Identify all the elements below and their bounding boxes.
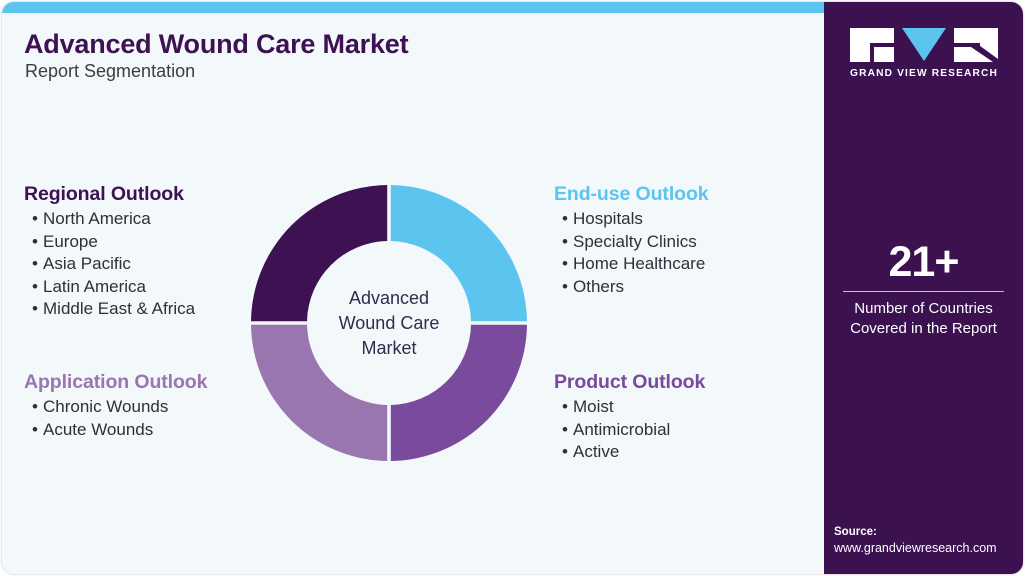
list-item: •North America bbox=[32, 208, 195, 231]
bullet-icon: • bbox=[562, 396, 573, 419]
list-item-label: Home Healthcare bbox=[573, 254, 705, 273]
list-item: •Asia Pacific bbox=[32, 253, 195, 276]
side-panel: GRAND VIEW RESEARCH 21+ Number of Countr… bbox=[824, 2, 1023, 574]
list-item-label: Moist bbox=[573, 397, 614, 416]
outlook-block-enduse: End-use Outlook •Hospitals •Specialty Cl… bbox=[554, 183, 709, 298]
list-item: •Europe bbox=[32, 231, 195, 254]
list-item-label: Active bbox=[573, 442, 619, 461]
list-item-label: Chronic Wounds bbox=[43, 397, 168, 416]
outlook-list-enduse: •Hospitals •Specialty Clinics •Home Heal… bbox=[554, 208, 709, 298]
donut-segment-product bbox=[391, 325, 527, 461]
top-accent-bar bbox=[2, 2, 824, 13]
outlook-title-application: Application Outlook bbox=[24, 371, 207, 394]
list-item: •Home Healthcare bbox=[562, 253, 709, 276]
list-item: •Others bbox=[562, 276, 709, 299]
bullet-icon: • bbox=[32, 253, 43, 276]
outlook-block-application: Application Outlook •Chronic Wounds •Acu… bbox=[24, 371, 207, 441]
list-item: •Chronic Wounds bbox=[32, 396, 207, 419]
main-content-area: Advanced Wound Care Market Report Segmen… bbox=[2, 13, 824, 574]
list-item: •Hospitals bbox=[562, 208, 709, 231]
list-item-label: Europe bbox=[43, 232, 98, 251]
segmentation-donut-chart: Advanced Wound Care Market bbox=[249, 183, 529, 463]
bullet-icon: • bbox=[32, 419, 43, 442]
bullet-icon: • bbox=[32, 396, 43, 419]
page-title: Advanced Wound Care Market bbox=[24, 29, 408, 60]
stat-divider bbox=[843, 291, 1004, 292]
stat-caption-line-1: Number of Countries bbox=[836, 299, 1011, 319]
source-label: Source: bbox=[834, 524, 1023, 540]
infographic-canvas: Advanced Wound Care Market Report Segmen… bbox=[0, 0, 1025, 576]
outlook-block-regional: Regional Outlook •North America •Europe … bbox=[24, 183, 195, 321]
list-item-label: Acute Wounds bbox=[43, 420, 153, 439]
source-block: Source: www.grandviewresearch.com bbox=[834, 524, 1023, 557]
list-item-label: Specialty Clinics bbox=[573, 232, 697, 251]
list-item: •Moist bbox=[562, 396, 705, 419]
bullet-icon: • bbox=[32, 298, 43, 321]
list-item-label: North America bbox=[43, 209, 151, 228]
countries-stat: 21+ Number of Countries Covered in the R… bbox=[836, 239, 1011, 339]
list-item-label: Latin America bbox=[43, 277, 146, 296]
outlook-list-application: •Chronic Wounds •Acute Wounds bbox=[24, 396, 207, 441]
bullet-icon: • bbox=[32, 231, 43, 254]
outlook-list-regional: •North America •Europe •Asia Pacific •La… bbox=[24, 208, 195, 321]
outlook-title-regional: Regional Outlook bbox=[24, 183, 195, 206]
donut-segment-enduse bbox=[391, 185, 527, 321]
bullet-icon: • bbox=[32, 208, 43, 231]
report-card: Advanced Wound Care Market Report Segmen… bbox=[2, 2, 1023, 574]
stat-caption: Number of Countries Covered in the Repor… bbox=[836, 299, 1011, 339]
list-item-label: Asia Pacific bbox=[43, 254, 131, 273]
gvr-logo-icon bbox=[850, 28, 998, 62]
list-item: •Specialty Clinics bbox=[562, 231, 709, 254]
donut-segment-regional bbox=[251, 185, 387, 321]
list-item: •Acute Wounds bbox=[32, 419, 207, 442]
outlook-list-product: •Moist •Antimicrobial •Active bbox=[554, 396, 705, 464]
list-item-label: Others bbox=[573, 277, 624, 296]
outlook-title-enduse: End-use Outlook bbox=[554, 183, 709, 206]
stat-caption-line-2: Covered in the Report bbox=[836, 319, 1011, 339]
donut-svg bbox=[249, 183, 529, 463]
logo-mark bbox=[850, 28, 998, 62]
bullet-icon: • bbox=[562, 231, 573, 254]
bullet-icon: • bbox=[32, 276, 43, 299]
source-url[interactable]: www.grandviewresearch.com bbox=[834, 540, 1023, 557]
outlook-title-product: Product Outlook bbox=[554, 371, 705, 394]
bullet-icon: • bbox=[562, 276, 573, 299]
outlook-block-product: Product Outlook •Moist •Antimicrobial •A… bbox=[554, 371, 705, 464]
page-subtitle: Report Segmentation bbox=[25, 61, 195, 82]
bullet-icon: • bbox=[562, 208, 573, 231]
triangle-icon bbox=[902, 28, 946, 61]
donut-segment-application bbox=[251, 325, 387, 461]
list-item: •Antimicrobial bbox=[562, 419, 705, 442]
stat-number: 21+ bbox=[836, 239, 1011, 285]
list-item-label: Antimicrobial bbox=[573, 420, 670, 439]
bullet-icon: • bbox=[562, 419, 573, 442]
list-item-label: Middle East & Africa bbox=[43, 299, 195, 318]
list-item: •Latin America bbox=[32, 276, 195, 299]
list-item: •Middle East & Africa bbox=[32, 298, 195, 321]
list-item-label: Hospitals bbox=[573, 209, 643, 228]
grand-view-research-logo: GRAND VIEW RESEARCH bbox=[850, 28, 998, 84]
bullet-icon: • bbox=[562, 253, 573, 276]
list-item: •Active bbox=[562, 441, 705, 464]
logo-wordmark: GRAND VIEW RESEARCH bbox=[850, 68, 998, 79]
bullet-icon: • bbox=[562, 441, 573, 464]
